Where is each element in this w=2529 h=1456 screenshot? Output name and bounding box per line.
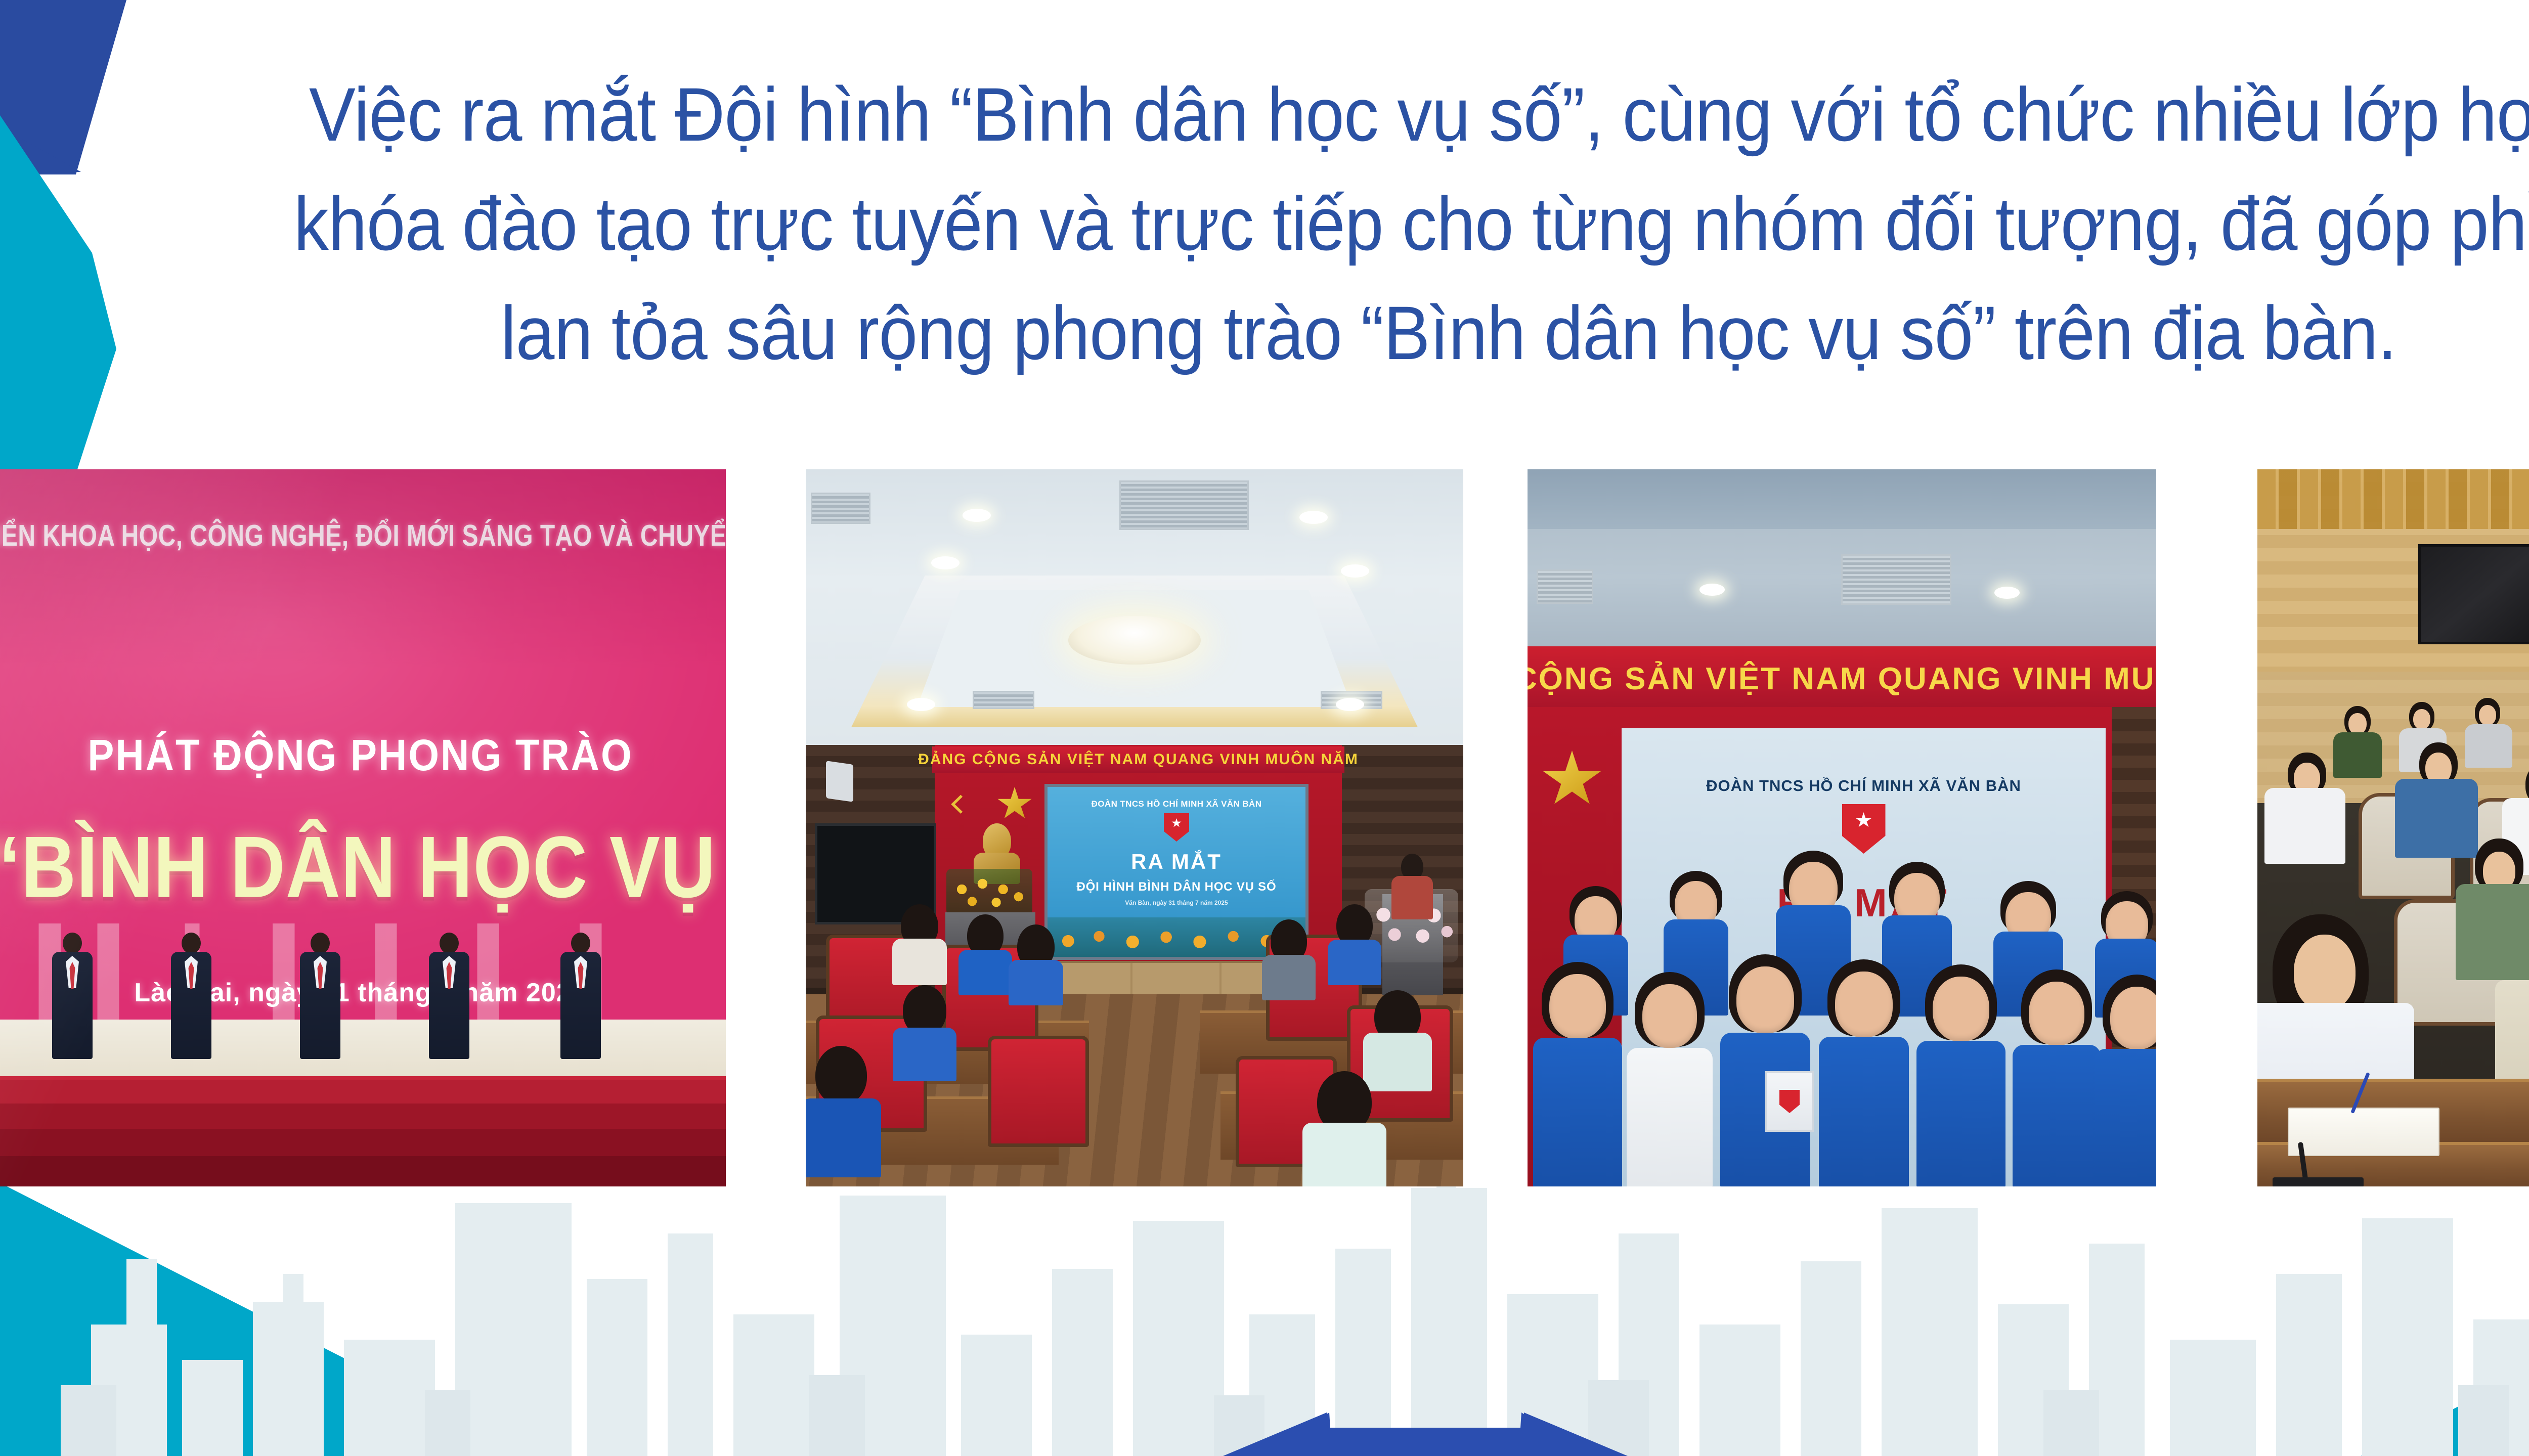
- photo4-face-far-3: [2479, 705, 2496, 725]
- photo-strip: O PHÁT TRIỂN KHOA HỌC, CÔNG NGHỆ, ĐỔI MỚ…: [0, 469, 2529, 1186]
- infographic-canvas: Việc ra mắt Đội hình “Bình dân học vụ số…: [0, 0, 2529, 1456]
- photo2-downlight-3: [931, 556, 960, 569]
- photo2-ceiling-vent-left: [811, 493, 870, 524]
- photo4-wall-tv: [2418, 544, 2529, 644]
- photo1-vignette: [0, 469, 726, 1186]
- photo3-flower-bouquet: [1851, 1058, 1940, 1134]
- photo3-member-front-6: [2012, 973, 2101, 1186]
- photo4-torso-far-1: [2333, 732, 2382, 778]
- photo3-ceiling-vent-center: [1841, 554, 1951, 605]
- photo2-screen-title: RA MẮT: [1048, 850, 1305, 874]
- photo3-ceiling-soffit: [1528, 469, 2156, 529]
- photo3-certificate-folder: [1765, 1071, 1814, 1132]
- photo2-attendee-1: [892, 904, 947, 985]
- photo2-attendee-4: [892, 985, 957, 1081]
- photo2-attendee-9: [1301, 1071, 1387, 1186]
- photo4-torso-far-3: [2465, 724, 2512, 768]
- photo2-downlight-4: [1341, 564, 1369, 578]
- headline-line-3: lan tỏa sâu rộng phong trào “Bình dân họ…: [116, 278, 2529, 387]
- photo3-downlight-2: [1994, 587, 2020, 599]
- photo4-decorative-frieze: [2257, 469, 2529, 529]
- photo3-member-front-2: [1626, 975, 1713, 1186]
- photo2-ceiling-vent-lower-left: [973, 691, 1034, 709]
- photo2-ceiling-vent-center: [1119, 480, 1249, 530]
- photo2-attendee-2: [957, 914, 1013, 995]
- photo2-attendee-3: [1008, 924, 1064, 1005]
- headline-line-1: Việc ra mắt Đội hình “Bình dân học vụ số…: [116, 60, 2529, 169]
- photo4-torso-near-back-1: [2456, 884, 2529, 980]
- photo2-speaker-at-lectern: [1390, 854, 1434, 919]
- photo-group-launch: G CỘNG SẢN VIỆT NAM QUANG VINH MUÔN ĐOÀN…: [1528, 469, 2156, 1186]
- headline-block: Việc ra mắt Đội hình “Bình dân học vụ số…: [0, 60, 2529, 387]
- photo3-member-front-1: [1533, 965, 1623, 1186]
- photo-conference-room: ĐẢNG CỘNG SẢN VIỆT NAM QUANG VINH MUÔN N…: [806, 469, 1463, 1186]
- photo2-downlight-2: [1299, 511, 1328, 524]
- photo2-wall-banner-text: ĐẢNG CỘNG SẢN VIỆT NAM QUANG VINH MUÔN N…: [918, 751, 1359, 768]
- photo3-wall-banner-text: G CỘNG SẢN VIỆT NAM QUANG VINH MUÔN: [1528, 661, 2156, 697]
- photo4-microphone-base-1: [2273, 1177, 2364, 1186]
- photo2-downlight-6: [1336, 698, 1364, 711]
- photo3-youth-union-logo-icon: [1842, 804, 1886, 854]
- photo2-downlight-5: [907, 698, 935, 711]
- photo2-attendee-6: [1327, 904, 1382, 985]
- photo2-ceiling-dome-light: [1068, 616, 1201, 665]
- photo4-notebook-1: [2288, 1108, 2439, 1156]
- photo2-sunflower-arrangement: [946, 869, 1032, 915]
- photo4-face-far-2: [2413, 709, 2430, 729]
- photo2-attendee-5: [806, 1046, 882, 1177]
- photo2-chair-4: [988, 1036, 1089, 1147]
- photo3-downlight-1: [1699, 584, 1725, 596]
- photo-training-audience: [2257, 469, 2529, 1186]
- photo2-screen-subtitle: ĐỘI HÌNH BÌNH DÂN HỌC VỤ SỐ: [1048, 880, 1305, 894]
- photo4-torso-mid-1: [2264, 788, 2345, 864]
- headline-line-2: khóa đào tạo trực tuyến và trực tiếp cho…: [116, 169, 2529, 278]
- photo2-youth-union-logo-icon: [1164, 813, 1189, 842]
- photo2-screen-date: Văn Bàn, ngày 31 tháng 7 năm 2025: [1048, 899, 1305, 906]
- photo3-screen-org: ĐOÀN TNCS HỒ CHÍ MINH XÃ VĂN BÀN: [1622, 777, 2106, 795]
- photo3-member-front-7: [2094, 978, 2156, 1186]
- photo2-downlight-1: [963, 509, 991, 522]
- photo2-wall-speaker: [826, 761, 853, 802]
- photo3-ceiling-vent-left: [1537, 569, 1593, 604]
- bottom-center-chevron-arrow: [1223, 1413, 1628, 1456]
- photo4-face-front-1: [2294, 935, 2356, 1010]
- photo2-attendee-7: [1261, 919, 1317, 1000]
- photo3-wall-banner: G CỘNG SẢN VIỆT NAM QUANG VINH MUÔN: [1528, 646, 2156, 711]
- photo4-torso-mid-2: [2395, 779, 2478, 858]
- photo4-face-far-1: [2348, 713, 2367, 734]
- photo2-screen-org: ĐOÀN TNCS HỒ CHÍ MINH XÃ VĂN BÀN: [1048, 799, 1305, 809]
- photo-launch-ceremony: O PHÁT TRIỂN KHOA HỌC, CÔNG NGHỆ, ĐỔI MỚ…: [0, 469, 726, 1186]
- photo2-wall-banner: ĐẢNG CỘNG SẢN VIỆT NAM QUANG VINH MUÔN N…: [932, 746, 1344, 773]
